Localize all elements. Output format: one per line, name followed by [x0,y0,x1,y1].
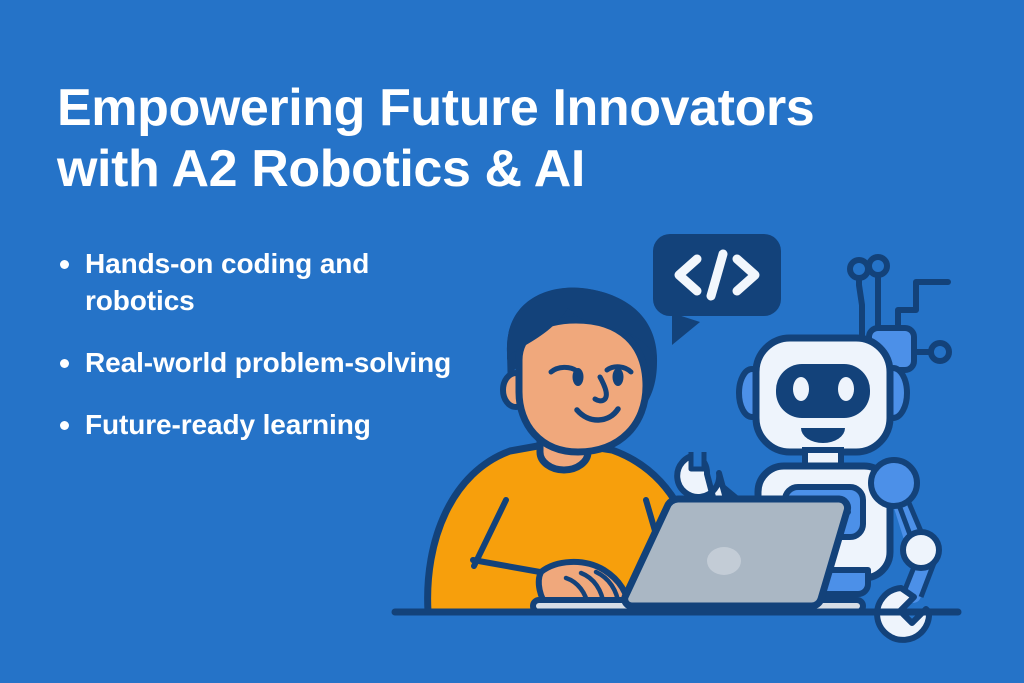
page-title: Empowering Future Innovators with A2 Rob… [57,78,857,201]
robot-elbow-joint [903,532,939,568]
robot-eye-left [793,377,809,401]
robot-shoulder-joint [871,460,917,506]
bullet-dot-icon [60,421,69,430]
text-column: Empowering Future Innovators with A2 Rob… [57,78,527,201]
promo-banner: Empowering Future Innovators with A2 Rob… [0,0,1024,683]
robot-eye-right [838,377,854,401]
list-item-label: Hands-on coding and robotics [85,248,369,316]
list-item: Real-world problem-solving [57,345,457,382]
feature-list: Hands-on coding and robotics Real-world … [57,246,457,444]
laptop-logo [707,547,741,575]
bullet-dot-icon [60,359,69,368]
list-item-label: Future-ready learning [85,409,371,440]
robot-visor [776,364,870,418]
list-item: Future-ready learning [57,407,457,444]
code-speech-bubble [653,234,781,345]
boy-eye-right [613,368,624,386]
bullet-dot-icon [60,260,69,269]
boy-face [519,320,646,452]
list-item: Hands-on coding and robotics [57,246,457,320]
boy-eye-left [573,368,584,386]
list-item-label: Real-world problem-solving [85,347,451,378]
